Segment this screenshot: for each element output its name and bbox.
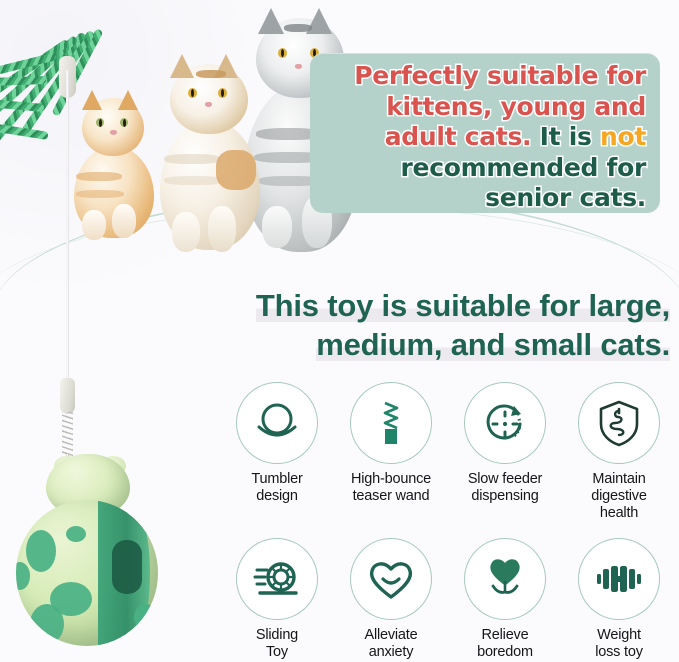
- feature-label-line2: digestive: [591, 488, 646, 505]
- feature-label-line2: dispensing: [468, 488, 542, 505]
- feature-label-line2: boredom: [477, 644, 533, 661]
- feature-label: Weight loss toy: [595, 627, 643, 661]
- callout-line-5: senior cats.: [310, 183, 646, 214]
- page-title: This toy is suitable for large, medium, …: [150, 286, 670, 365]
- heading-line-1: This toy is suitable for large,: [256, 288, 670, 323]
- shield-gut-icon: [578, 382, 660, 464]
- product-tumbler-toy: [8, 448, 168, 653]
- callout-line-4: recommended for: [310, 153, 646, 184]
- toy-ball-body: [16, 500, 158, 646]
- feature-label-line1: Tumbler: [251, 471, 302, 488]
- tumbler-icon: [236, 382, 318, 464]
- wand-grip-lower: [60, 378, 75, 414]
- toy-treat-slot: [112, 540, 142, 594]
- wand-rod-upper: [66, 70, 69, 400]
- feature-slow-feeder-dispensing[interactable]: Slow feeder dispensing: [450, 382, 560, 522]
- callout-text: Perfectly suitable for kittens, young an…: [310, 61, 660, 214]
- feature-label-line1: Maintain: [591, 471, 646, 488]
- feature-label: Slow feeder dispensing: [468, 471, 542, 505]
- heading-line-2: medium, and small cats.: [316, 327, 670, 362]
- toy-spot: [66, 526, 86, 542]
- heart-smile-icon: [350, 538, 432, 620]
- callout-line-3-green: It is: [540, 122, 592, 151]
- timer-icon: [464, 382, 546, 464]
- feature-row-2: Sliding Toy Alleviate anxiety: [222, 538, 674, 661]
- feature-label-line2: Toy: [256, 644, 298, 661]
- rolling-wheel-icon: [236, 538, 318, 620]
- feature-label: Alleviate anxiety: [364, 627, 417, 661]
- feature-row-1: Tumbler design High-bounce teaser wand: [222, 382, 674, 522]
- feature-maintain-digestive-health[interactable]: Maintain digestive health: [564, 382, 674, 522]
- feature-relieve-boredom[interactable]: Relieve boredom: [450, 538, 560, 661]
- feature-label-line2: teaser wand: [351, 488, 431, 505]
- feature-label-line1: Alleviate: [364, 627, 417, 644]
- callout-emphasis-not: not: [600, 122, 646, 151]
- callout-line-3-red: adult cats.: [385, 122, 532, 151]
- callout-line-1: Perfectly suitable for: [310, 61, 646, 92]
- toy-spot: [134, 604, 158, 630]
- feature-label-line1: Slow feeder: [468, 471, 542, 488]
- feature-label-line2: anxiety: [364, 644, 417, 661]
- feature-label: High-bounce teaser wand: [351, 471, 431, 505]
- callout-line-3: adult cats. It is not: [310, 122, 646, 153]
- cat-medium: [150, 54, 272, 250]
- suitability-callout-box: Perfectly suitable for kittens, young an…: [310, 53, 660, 213]
- feature-tumbler-design[interactable]: Tumbler design: [222, 382, 332, 522]
- feature-alleviate-anxiety[interactable]: Alleviate anxiety: [336, 538, 446, 661]
- feature-label: Sliding Toy: [256, 627, 298, 661]
- feature-label-line1: High-bounce: [351, 471, 431, 488]
- feature-label: Tumbler design: [251, 471, 302, 505]
- toy-spot: [16, 562, 30, 590]
- callout-line-2: kittens, young and: [310, 92, 646, 123]
- feature-grid: Tumbler design High-bounce teaser wand: [222, 382, 674, 662]
- infographic-canvas: Perfectly suitable for kittens, young an…: [0, 0, 679, 657]
- heart-whisker-icon: [464, 538, 546, 620]
- feature-label-line1: Sliding: [256, 627, 298, 644]
- toy-spot: [30, 604, 64, 644]
- toy-spot: [26, 530, 56, 572]
- feature-label-line1: Relieve: [477, 627, 533, 644]
- feature-high-bounce-teaser-wand[interactable]: High-bounce teaser wand: [336, 382, 446, 522]
- feature-sliding-toy[interactable]: Sliding Toy: [222, 538, 332, 661]
- feature-label-line3: health: [591, 505, 646, 522]
- feature-label-line2: loss toy: [595, 644, 643, 661]
- dumbbell-icon: [578, 538, 660, 620]
- feature-weight-loss-toy[interactable]: Weight loss toy: [564, 538, 674, 661]
- feature-label: Maintain digestive health: [591, 471, 646, 522]
- spring-wand-icon: [350, 382, 432, 464]
- feature-label-line2: design: [251, 488, 302, 505]
- feature-label-line1: Weight: [595, 627, 643, 644]
- feature-label: Relieve boredom: [477, 627, 533, 661]
